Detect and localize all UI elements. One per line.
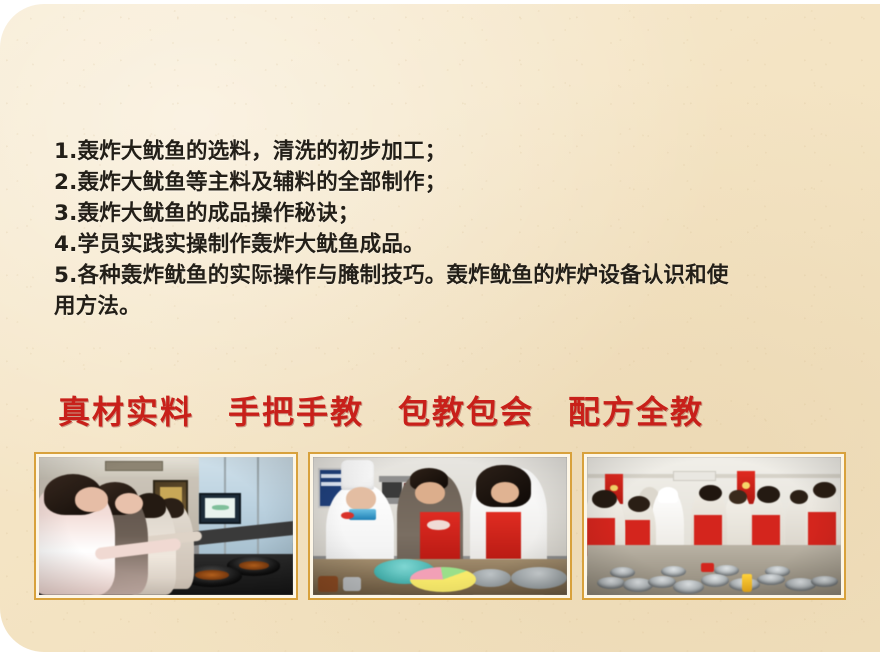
outline-item-5-text: 各种轰炸鱿鱼的实际操作与腌制技巧。轰炸鱿鱼的炸炉设备认识和使用方法。 (54, 263, 729, 319)
photo-frame-3: 教室内学员集体实操备料 (582, 452, 846, 600)
photo-strip: 学员在灶台前实操炒制 (34, 452, 846, 600)
photo-students-at-woks: 学员在灶台前实操炒制 (39, 457, 293, 595)
photo-frame-1: 学员在灶台前实操炒制 (34, 452, 298, 600)
course-outline-list: 1.轰炸大鱿鱼的选料，清洗的初步加工； 2.轰炸大鱿鱼等主料及辅料的全部制作； … (54, 136, 844, 322)
outline-item-2: 2.轰炸大鱿鱼等主料及辅料的全部制作； (54, 167, 844, 198)
outline-item-3-number: 3. (54, 201, 78, 226)
outline-item-1-number: 1. (54, 139, 78, 164)
outline-item-3-text: 轰炸大鱿鱼的成品操作秘诀； (78, 201, 360, 226)
slogan-4: 配方全教 (568, 392, 704, 432)
outline-item-1-text: 轰炸大鱿鱼的选料，清洗的初步加工； (78, 139, 447, 164)
slogan-3: 包教包会 (398, 392, 534, 432)
photo-frame-2: 厨师长手把手指导两名学员 (308, 452, 572, 600)
outline-item-2-text: 轰炸大鱿鱼等主料及辅料的全部制作； (78, 170, 447, 195)
outline-item-1: 1.轰炸大鱿鱼的选料，清洗的初步加工； (54, 136, 844, 167)
outline-item-4-text: 学员实践实操制作轰炸大鱿鱼成品。 (78, 232, 425, 257)
outline-item-5: 5.各种轰炸鱿鱼的实际操作与腌制技巧。轰炸鱿鱼的炸炉设备认识和使用方法。 (54, 260, 744, 322)
slogan-1: 真材实料 (58, 392, 194, 432)
photo-chef-instructing-students: 厨师长手把手指导两名学员 (313, 457, 567, 595)
presentation-slide: 1.轰炸大鱿鱼的选料，清洗的初步加工； 2.轰炸大鱿鱼等主料及辅料的全部制作； … (0, 0, 880, 660)
outline-item-4: 4.学员实践实操制作轰炸大鱿鱼成品。 (54, 229, 844, 260)
outline-item-5-number: 5. (54, 263, 78, 288)
outline-item-3: 3.轰炸大鱿鱼的成品操作秘诀； (54, 198, 844, 229)
slogan-2: 手把手教 (228, 392, 364, 432)
slogan-row: 真材实料 手把手教 包教包会 配方全教 (58, 392, 848, 432)
outline-item-4-number: 4. (54, 232, 78, 257)
outline-item-2-number: 2. (54, 170, 78, 195)
photo-classroom-group-practice: 教室内学员集体实操备料 (587, 457, 841, 595)
